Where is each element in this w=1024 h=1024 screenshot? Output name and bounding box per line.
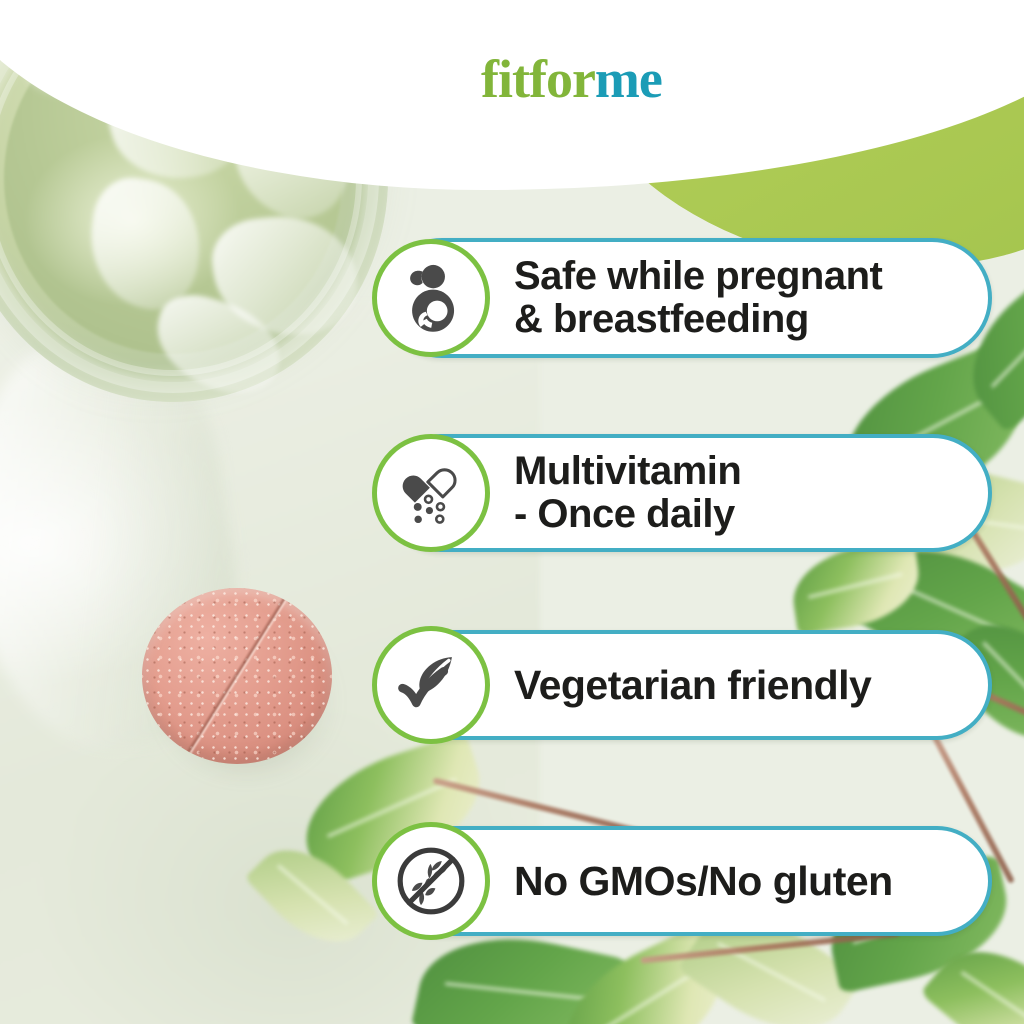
feature-label: Multivitamin - Once daily	[514, 450, 741, 536]
feature-label: Vegetarian friendly	[514, 663, 871, 707]
feature-list: Safe while pregnant & breastfeeding	[382, 238, 992, 936]
breastfeeding-icon	[372, 239, 490, 357]
feature-label: Safe while pregnant & breastfeeding	[514, 255, 882, 341]
brand-logo-green-text: fitfor	[481, 49, 595, 109]
feature-item-vegetarian-friendly: Vegetarian friendly	[382, 630, 992, 740]
no-grain-prohibition-icon	[372, 822, 490, 940]
brand-logo-blue-text: me	[595, 49, 662, 109]
tablet-photo	[142, 588, 346, 780]
leaf-checkmark-icon	[372, 626, 490, 744]
infographic-canvas: fitforme	[0, 0, 1024, 1024]
brand-logo: fitforme	[481, 52, 662, 106]
feature-item-no-gmos-no-gluten: No GMOs/No gluten	[382, 826, 992, 936]
feature-label: No GMOs/No gluten	[514, 859, 893, 903]
feature-item-multivitamin-once-daily: Multivitamin - Once daily	[382, 434, 992, 552]
feature-item-safe-while-pregnant: Safe while pregnant & breastfeeding	[382, 238, 992, 358]
open-capsule-granules-icon	[372, 434, 490, 552]
